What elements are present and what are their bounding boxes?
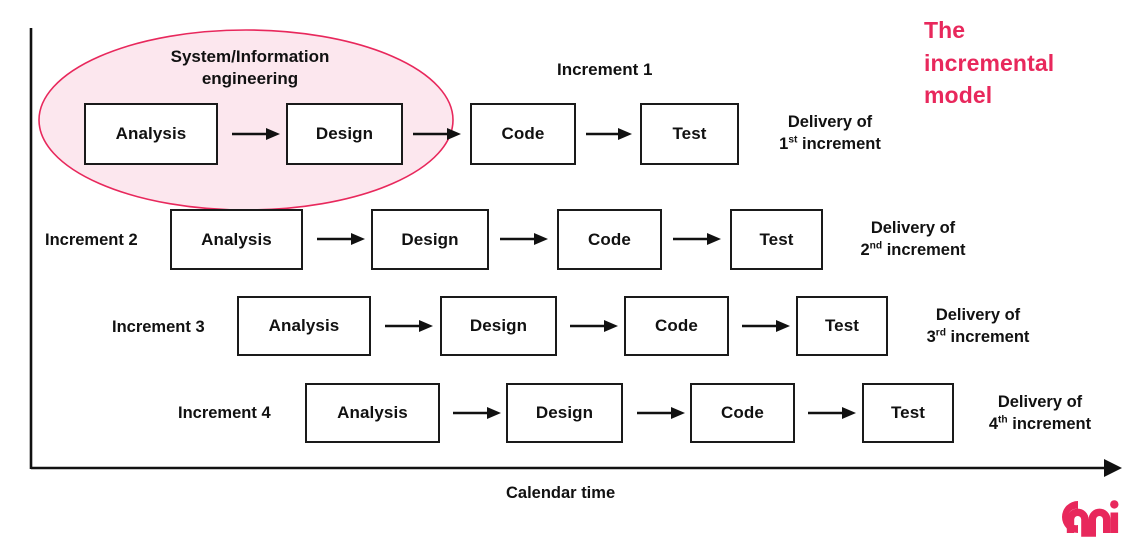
increment-1-delivery-line2: 1st increment [762,133,898,155]
increment-2-box-code[interactable]: Code [557,209,662,270]
increment-3-arrow-2 [570,318,620,334]
increment-1-box-test[interactable]: Test [640,103,739,165]
page-title: The incremental model [924,14,1114,112]
increment-1-ordinal-number: 1 [779,135,788,153]
increment-4-arrow-1 [453,405,503,421]
increment-1-delivery-tail: increment [797,135,880,153]
increment-3-box-code[interactable]: Code [624,296,729,356]
increment-3-delivery-tail: increment [946,328,1029,346]
increment-2-delivery-line1: Delivery of [845,217,981,239]
increment-4-delivery-line1: Delivery of [972,391,1108,413]
increment-1-box-analysis[interactable]: Analysis [84,103,218,165]
increment-2-box-design[interactable]: Design [371,209,489,270]
increment-2-delivery-line2: 2nd increment [845,239,981,261]
increment-4-box-test[interactable]: Test [862,383,954,443]
ellipse-caption-line2: engineering [130,68,370,90]
increment-4-delivery: Delivery of 4th increment [972,391,1108,435]
increment-3-label: Increment 3 [112,318,205,337]
increment-3-ordinal-suffix: rd [936,328,946,339]
increment-1-delivery: Delivery of 1st increment [762,111,898,155]
increment-1-arrow-3 [586,126,634,142]
increment-3-box-analysis[interactable]: Analysis [237,296,371,356]
increment-2-box-analysis[interactable]: Analysis [170,209,303,270]
increment-3-box-test[interactable]: Test [796,296,888,356]
increment-4-ordinal-number: 4 [989,415,998,433]
increment-3-delivery: Delivery of 3rd increment [910,304,1046,348]
increment-3-arrow-1 [385,318,435,334]
increment-2-arrow-2 [500,231,550,247]
page-title-line1: The [924,14,1114,47]
increment-1-box-code[interactable]: Code [470,103,576,165]
increment-2-delivery-tail: increment [882,241,965,259]
increment-4-delivery-line2: 4th increment [972,413,1108,435]
increment-2-delivery: Delivery of 2nd increment [845,217,981,261]
x-axis-arrowhead [1104,459,1122,477]
increment-1-title: Increment 1 [557,60,652,80]
increment-2-label: Increment 2 [45,231,138,250]
increment-4-label: Increment 4 [178,404,271,423]
increment-2-ordinal-number: 2 [860,241,869,259]
increment-3-arrow-3 [742,318,792,334]
increment-2-ordinal-suffix: nd [870,241,882,252]
increment-2-arrow-3 [673,231,723,247]
increment-3-delivery-line2: 3rd increment [910,326,1046,348]
diagram-canvas: System/Information engineering Increment… [0,0,1140,550]
increment-4-box-analysis[interactable]: Analysis [305,383,440,443]
increment-4-arrow-2 [637,405,687,421]
page-title-line3: model [924,79,1114,112]
increment-3-delivery-line1: Delivery of [910,304,1046,326]
page-title-line2: incremental [924,47,1114,80]
increment-1-box-design[interactable]: Design [286,103,403,165]
calendar-time-label: Calendar time [506,484,615,503]
increment-1-arrow-2 [413,126,463,142]
increment-4-arrow-3 [808,405,858,421]
increment-2-box-test[interactable]: Test [730,209,823,270]
increment-2-arrow-1 [317,231,367,247]
increment-3-box-design[interactable]: Design [440,296,557,356]
increment-4-box-design[interactable]: Design [506,383,623,443]
increment-1-arrow-1 [232,126,282,142]
increment-3-ordinal-number: 3 [927,328,936,346]
increment-4-delivery-tail: increment [1008,415,1091,433]
increment-1-delivery-line1: Delivery of [762,111,898,133]
ellipse-caption-line1: System/Information [130,46,370,68]
increment-4-box-code[interactable]: Code [690,383,795,443]
ellipse-caption: System/Information engineering [130,46,370,90]
mi-logo-icon [1048,492,1122,542]
increment-4-ordinal-suffix: th [998,415,1008,426]
